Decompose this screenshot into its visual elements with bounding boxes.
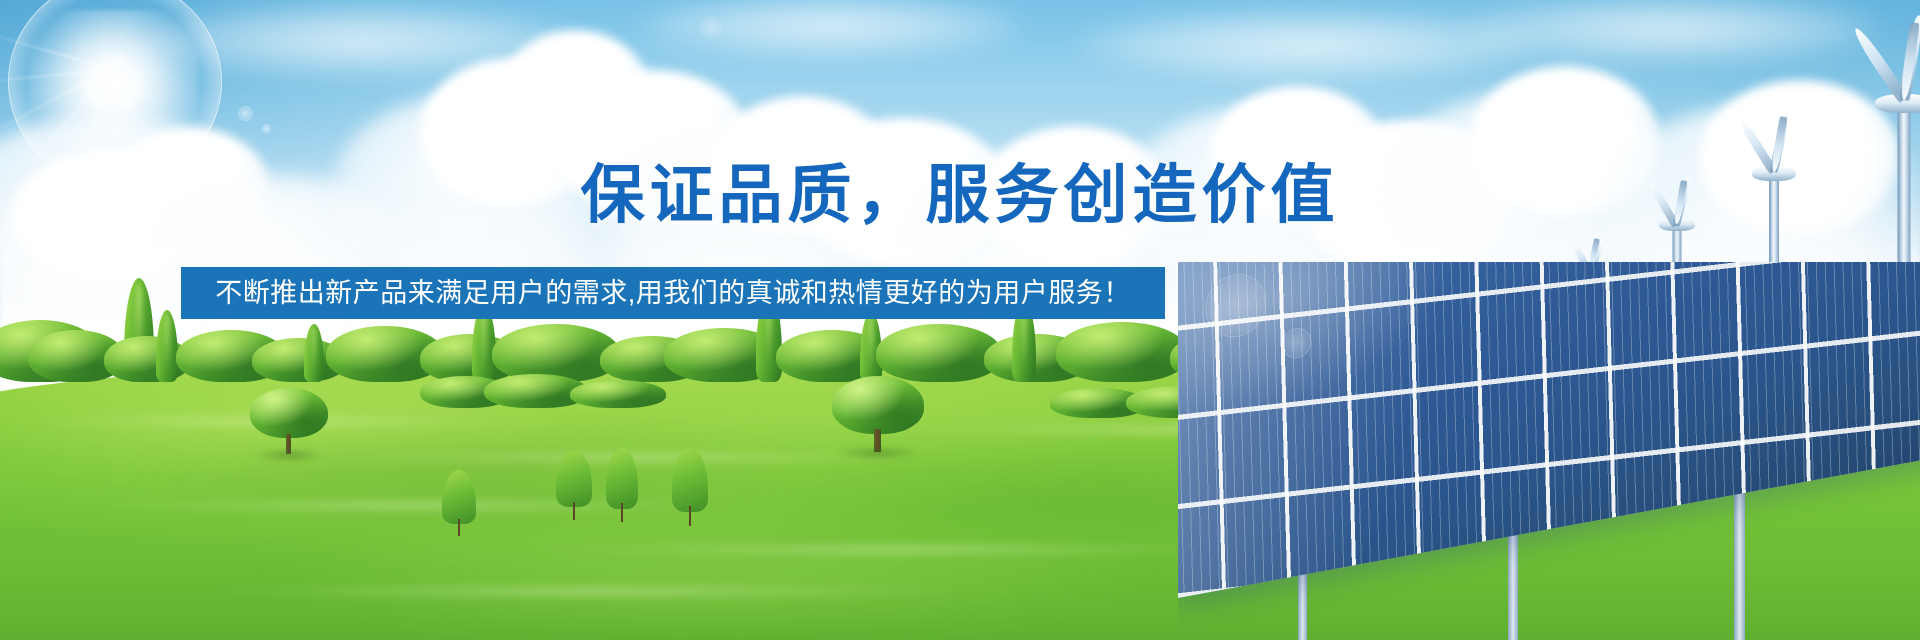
mow-stripe — [60, 503, 760, 508]
foreground-sapling-a — [442, 470, 476, 536]
sapling-trunk — [458, 519, 460, 536]
tree-crown — [250, 388, 328, 438]
sapling-trunk — [621, 503, 623, 522]
treeline-cypress — [156, 310, 178, 382]
tree-crown — [832, 376, 924, 434]
lens-flare-dot — [262, 124, 271, 133]
foreground-tree-left — [250, 388, 328, 454]
banner-subtitle-bar: 不断推出新产品来满足用户的需求,用我们的真诚和热情更好的为用户服务！ — [181, 267, 1165, 319]
promo-banner: 保证品质，服务创造价值 不断推出新产品来满足用户的需求,用我们的真诚和热情更好的… — [0, 0, 1920, 640]
midfield-shrubs — [420, 372, 680, 408]
treeline-bush — [876, 324, 1002, 382]
sapling-crown — [556, 450, 592, 507]
sapling-crown — [606, 448, 638, 509]
lens-flare-dot — [238, 106, 253, 121]
lens-flare-dot — [700, 16, 722, 38]
sapling-crown — [442, 470, 476, 524]
solar-panel-sheen — [1178, 262, 1920, 599]
field-mound — [260, 511, 1160, 640]
sapling-trunk — [689, 506, 691, 526]
mow-stripe — [520, 547, 1280, 552]
mow-stripe — [180, 589, 1000, 594]
solar-panel-face — [1178, 262, 1920, 599]
solar-panel-array — [1178, 262, 1920, 640]
foreground-tree-right — [832, 376, 924, 452]
foreground-sapling-d — [672, 448, 708, 526]
foreground-sapling-c — [606, 448, 638, 522]
tree-shadow — [838, 447, 919, 459]
tree-shadow — [255, 449, 324, 461]
treeline-cypress — [304, 324, 324, 382]
midfield-bush — [570, 380, 666, 408]
treeline-bush — [1056, 322, 1188, 382]
sapling-crown — [672, 448, 708, 512]
banner-headline: 保证品质，服务创造价值 — [0, 163, 1920, 227]
banner-subtitle-text: 不断推出新产品来满足用户的需求,用我们的真诚和热情更好的为用户服务！ — [215, 280, 1131, 307]
sapling-trunk — [573, 502, 575, 520]
foreground-sapling-b — [556, 450, 592, 520]
